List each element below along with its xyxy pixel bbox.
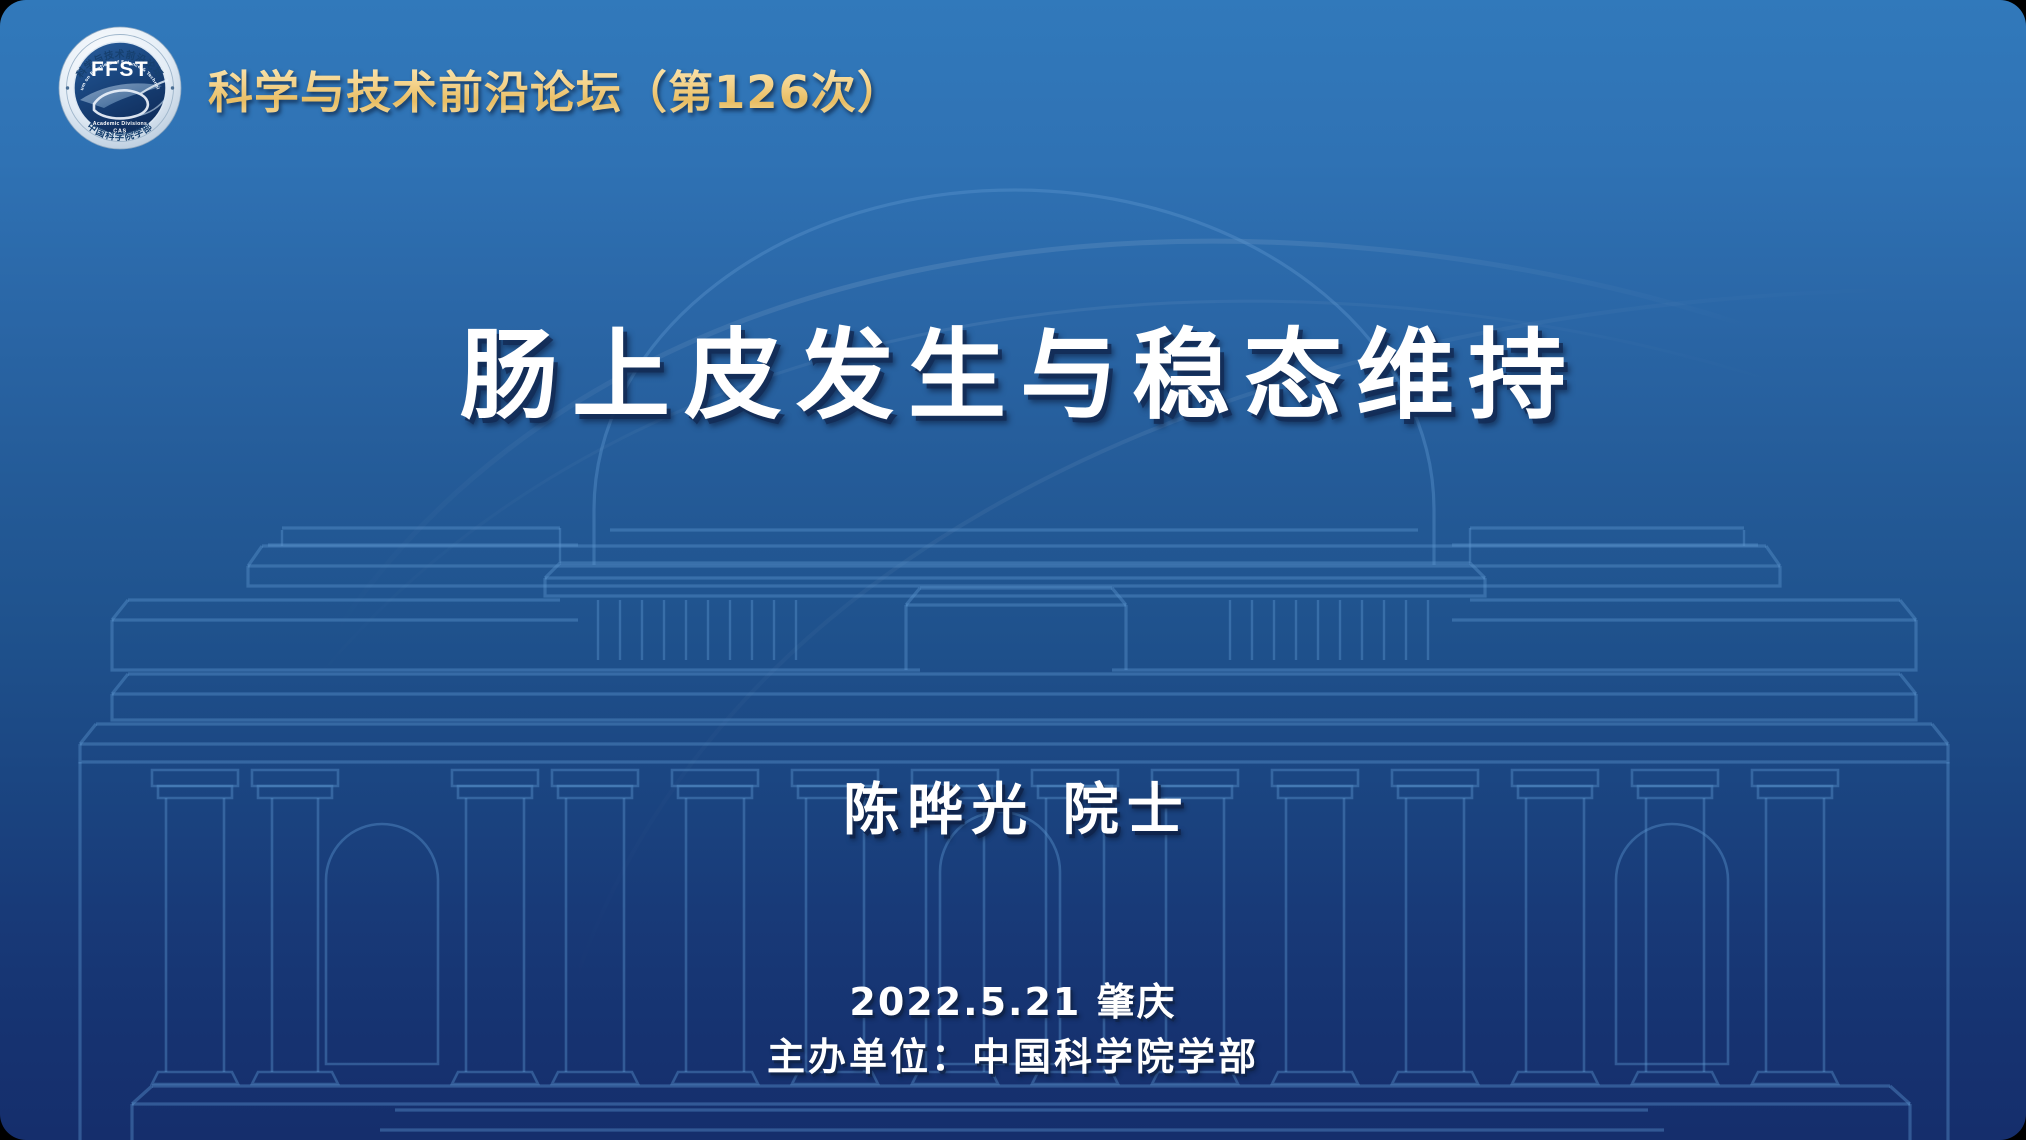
ffst-logo-emblem: 科学与技术前沿论坛 Forum on Frontiers of Science … [58,26,182,150]
plinth [132,1086,1910,1140]
logo-bottom-en-1: Academic Divisions [93,121,147,127]
event-date-location: 2022.5.21 肇庆 [0,975,2026,1030]
balustrade [282,528,1744,660]
slide-header: 科学与技术前沿论坛 Forum on Frontiers of Science … [58,26,903,150]
logo-bottom-en-2: CAS [113,129,127,135]
main-entablature [112,588,1916,720]
upper-cornice [545,563,1485,596]
ffst-logo: 科学与技术前沿论坛 Forum on Frontiers of Science … [58,26,182,150]
event-organizer: 主办单位：中国科学院学部 [0,1030,2026,1085]
forum-series-title: 科学与技术前沿论坛（第126次） [208,56,903,121]
logo-acronym: FFST [91,58,149,81]
great-hall-building-line-art [0,0,2026,1140]
presentation-main-title: 肠上皮发生与稳态维持 [0,296,2026,438]
slide-footer: 2022.5.21 肇庆 主办单位：中国科学院学部 [0,975,2026,1085]
speaker-name: 陈晔光 院士 [0,765,2026,846]
background-swoosh-decoration [0,0,2026,1140]
presentation-slide: 科学与技术前沿论坛 Forum on Frontiers of Science … [0,0,2026,1140]
second-cornice [248,528,1780,586]
colonnade-architrave [80,724,1948,762]
